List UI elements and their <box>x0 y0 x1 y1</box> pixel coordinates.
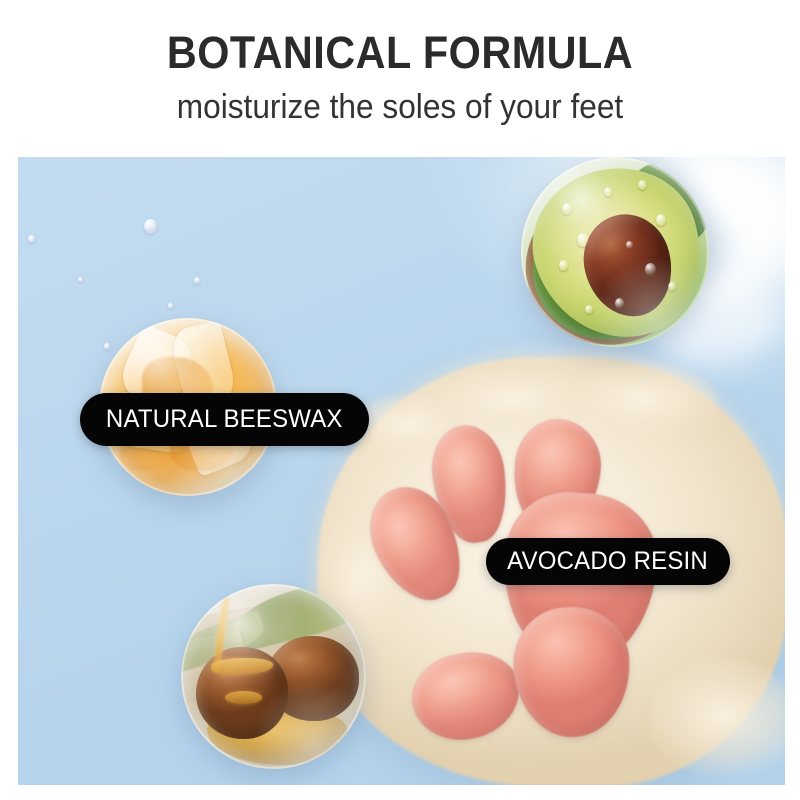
product-photo-panel: NATURAL BEESWAX AVOCADO RESIN JOJOBA SEE… <box>18 157 785 785</box>
ingredient-label-beeswax[interactable]: NATURAL BEESWAX <box>80 393 369 446</box>
product-poster: BOTANICAL FORMULA moisturize the soles o… <box>0 0 800 800</box>
header: BOTANICAL FORMULA moisturize the soles o… <box>0 0 800 157</box>
water-droplet <box>615 298 624 309</box>
water-droplet <box>626 241 633 249</box>
jojoba-bubble <box>181 584 366 769</box>
water-droplet <box>668 282 676 291</box>
ingredient-label-avocado[interactable]: AVOCADO RESIN <box>486 538 730 585</box>
water-droplet <box>562 203 572 215</box>
water-droplet <box>144 219 157 234</box>
water-droplet <box>194 277 200 284</box>
fur-tuft <box>568 363 718 443</box>
water-droplet <box>638 180 647 190</box>
water-droplet <box>78 277 83 282</box>
water-droplet <box>559 260 568 271</box>
page-subtitle: moisturize the soles of your feet <box>28 90 772 124</box>
avocado-bubble-content <box>521 157 709 347</box>
ingredient-label-text: NATURAL BEESWAX <box>106 405 343 434</box>
water-droplet <box>28 235 35 243</box>
page-title: BOTANICAL FORMULA <box>32 30 768 75</box>
ingredient-label-text: AVOCADO RESIN <box>508 547 709 576</box>
jojoba-bubble-content <box>181 584 366 769</box>
fur-tuft <box>648 657 785 785</box>
avocado-bubble <box>521 157 709 347</box>
water-droplet <box>168 303 173 309</box>
